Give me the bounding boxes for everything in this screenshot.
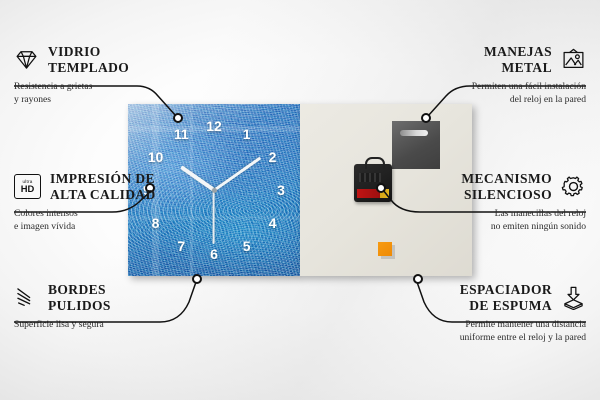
feature-heading: MANEJAS METAL	[351, 44, 586, 76]
feature-desc-line2: y rayones	[14, 94, 249, 107]
feature-manejas-metal: MANEJAS METAL Permiten una fácil instala…	[351, 44, 586, 106]
feature-desc-line2: e imagen vívida	[14, 221, 249, 234]
feature-heading: ESPACIADOR DE ESPUMA	[351, 282, 586, 314]
feature-description: Resistencia a grietas y rayones	[14, 81, 249, 106]
feature-impresion-alta-calidad: ultra HD IMPRESIÓN DE ALTA CALIDAD Color…	[14, 171, 249, 233]
feature-heading: ultra HD IMPRESIÓN DE ALTA CALIDAD	[14, 171, 249, 203]
feature-desc-line2: del reloj en la pared	[351, 94, 586, 107]
gear-icon	[561, 174, 586, 199]
feature-title: MANEJAS METAL	[484, 44, 552, 76]
feature-title-line2: TEMPLADO	[48, 60, 129, 76]
polished-edges-icon	[14, 285, 39, 310]
feature-desc-line1: Superficie lisa y segura	[14, 319, 249, 332]
feature-desc-line2: uniforme entre el reloj y la pared	[351, 332, 586, 345]
feature-description: Colores intensos e imagen vívida	[14, 208, 249, 233]
feature-heading: VIDRIO TEMPLADO	[14, 44, 249, 76]
infographic-canvas: 12 1 2 3 4 5 6 7 8 9 10 11	[0, 0, 600, 400]
feature-title: IMPRESIÓN DE ALTA CALIDAD	[50, 171, 156, 203]
feature-description: Permite mantener una distancia uniforme …	[351, 319, 586, 344]
feature-title-line2: METAL	[484, 60, 552, 76]
clock-number-3: 3	[277, 183, 285, 197]
feature-description: Las manecillas del reloj no emiten ningú…	[351, 208, 586, 233]
feature-title-line1: BORDES	[48, 282, 111, 298]
feature-title-line1: IMPRESIÓN DE	[50, 171, 156, 187]
feature-heading: MECANISMO SILENCIOSO	[351, 171, 586, 203]
feature-desc-line1: Resistencia a grietas	[14, 81, 249, 94]
clock-number-11: 11	[174, 127, 189, 141]
feature-title: ESPACIADOR DE ESPUMA	[460, 282, 552, 314]
picture-hanger-icon	[561, 47, 586, 72]
feature-desc-line1: Permite mantener una distancia	[351, 319, 586, 332]
feature-desc-line2: no emiten ningún sonido	[351, 221, 586, 234]
clock-number-10: 10	[148, 150, 164, 164]
feature-title-line1: ESPACIADOR	[460, 282, 552, 298]
feature-vidrio-templado: VIDRIO TEMPLADO Resistencia a grietas y …	[14, 44, 249, 106]
ultra-hd-icon: ultra HD	[14, 174, 41, 199]
feature-heading: BORDES PULIDOS	[14, 282, 249, 314]
feature-espaciador-espuma: ESPACIADOR DE ESPUMA Permite mantener un…	[351, 282, 586, 344]
mechanism-hook	[365, 157, 385, 169]
feature-title-line1: MECANISMO	[461, 171, 552, 187]
feature-title-line2: PULIDOS	[48, 298, 111, 314]
feature-mecanismo-silencioso: MECANISMO SILENCIOSO Las manecillas del …	[351, 171, 586, 233]
feature-title: MECANISMO SILENCIOSO	[461, 171, 552, 203]
feature-description: Permiten una fácil instalación del reloj…	[351, 81, 586, 106]
feature-desc-line1: Permiten una fácil instalación	[351, 81, 586, 94]
clock-number-12: 12	[206, 119, 222, 133]
ultra-hd-large-text: HD	[21, 184, 35, 194]
feature-title-line2: ALTA CALIDAD	[50, 187, 156, 203]
feature-title: VIDRIO TEMPLADO	[48, 44, 129, 76]
hanger-slot	[400, 130, 428, 136]
clock-number-7: 7	[177, 239, 185, 253]
feature-title-line2: SILENCIOSO	[461, 187, 552, 203]
feature-title-line2: DE ESPUMA	[460, 298, 552, 314]
foam-spacer-arrow-icon	[561, 285, 586, 310]
feature-description: Superficie lisa y segura	[14, 319, 249, 332]
feature-title-line1: VIDRIO	[48, 44, 129, 60]
foam-spacer	[378, 242, 392, 256]
clock-number-6: 6	[210, 247, 218, 261]
feature-title-line1: MANEJAS	[484, 44, 552, 60]
feature-bordes-pulidos: BORDES PULIDOS Superficie lisa y segura	[14, 282, 249, 332]
clock-number-4: 4	[269, 216, 277, 230]
diamond-icon	[14, 47, 39, 72]
feature-desc-line1: Las manecillas del reloj	[351, 208, 586, 221]
clock-number-5: 5	[243, 239, 251, 253]
feature-desc-line1: Colores intensos	[14, 208, 249, 221]
feature-title: BORDES PULIDOS	[48, 282, 111, 314]
clock-number-1: 1	[243, 127, 251, 141]
metal-hanger	[392, 121, 440, 169]
clock-number-2: 2	[269, 150, 277, 164]
